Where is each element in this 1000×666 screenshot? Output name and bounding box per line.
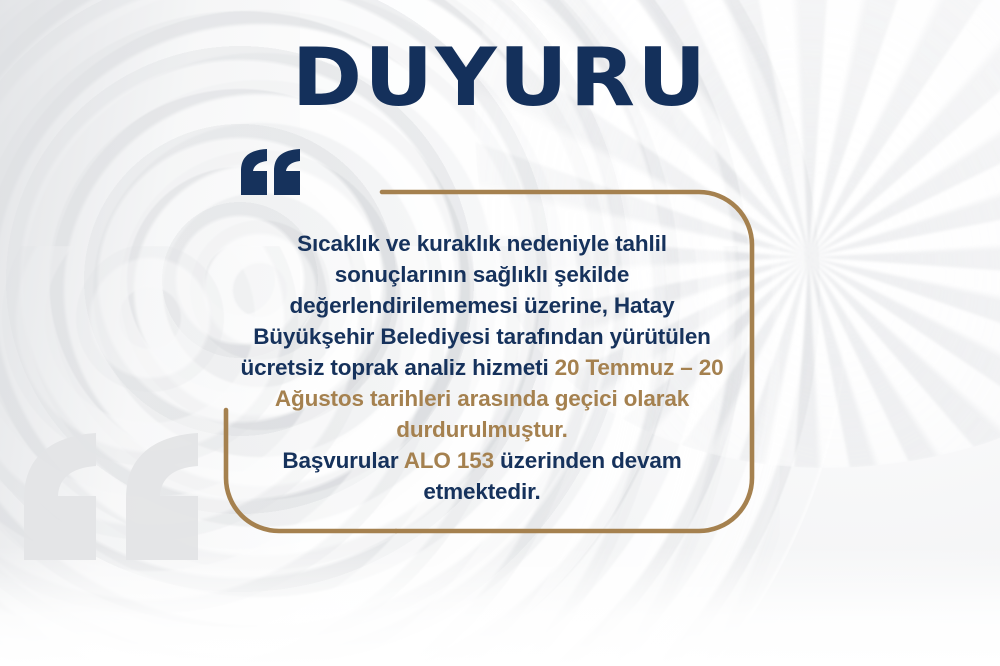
page-title: DUYURU xyxy=(0,38,1000,118)
watermark-quote-icon xyxy=(22,432,207,562)
announcement-body: Sıcaklık ve kuraklık nedeniyle tahlil so… xyxy=(232,228,732,507)
hotline-number: ALO 153 xyxy=(404,448,494,473)
announcement-paragraph-1: Sıcaklık ve kuraklık nedeniyle tahlil so… xyxy=(232,228,732,445)
announcement-poster: DUYURU Sıcaklık ve kuraklık nedeniyle ta… xyxy=(0,0,1000,666)
announcement-paragraph-2: Başvurular ALO 153 üzerinden devam etmek… xyxy=(232,445,732,507)
footer: Mehmet ÖNTÜRK HATAY BÜYÜKŞEHİR BELEDİYE … xyxy=(0,546,1000,666)
announcement-p2-plain-a: Başvurular xyxy=(282,448,403,473)
